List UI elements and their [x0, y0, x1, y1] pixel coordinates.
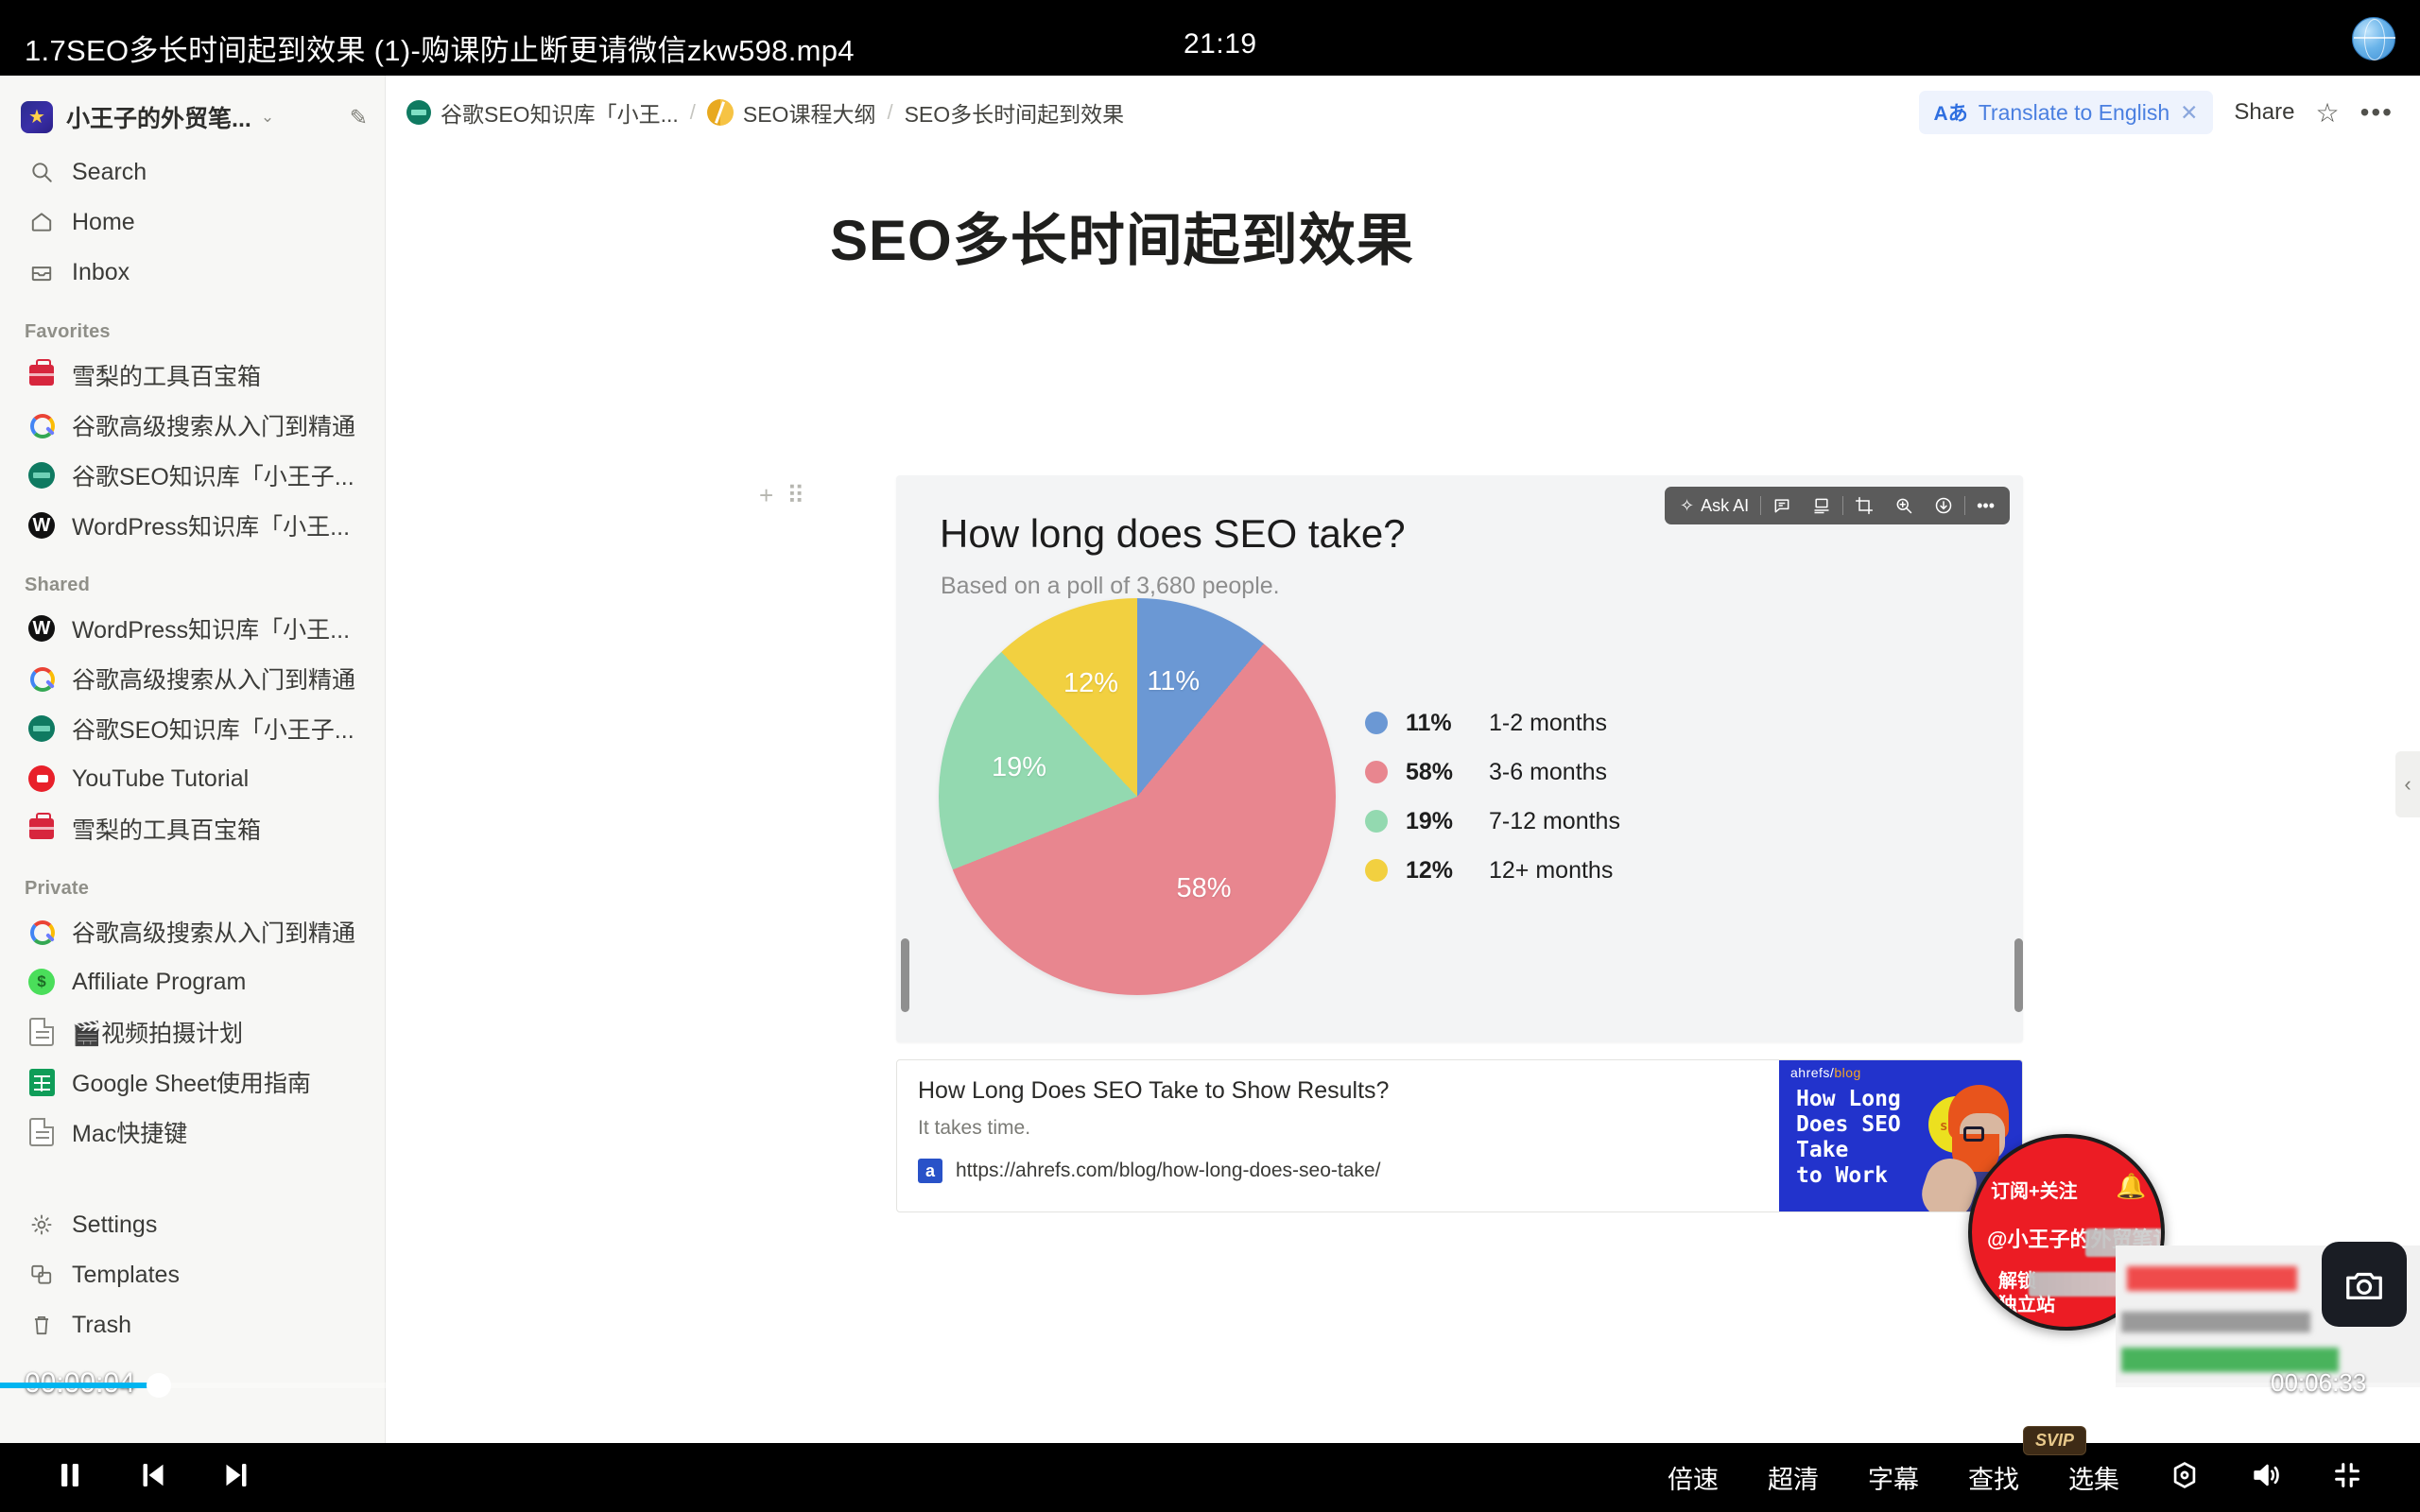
- pie-chart: 11% 58% 19% 12%: [939, 598, 1336, 995]
- find-button[interactable]: 查找: [1968, 1459, 2019, 1496]
- sidebar-item-label: Mac快捷键: [72, 1115, 187, 1149]
- sidebar-section-shared-title: Shared: [25, 575, 385, 596]
- sidebar-item-settings[interactable]: Settings: [11, 1200, 373, 1249]
- sidebar-item-private-0[interactable]: 谷歌高级搜索从入门到精通: [11, 907, 373, 956]
- toolbar-divider: [1842, 496, 1843, 515]
- legend-color-swatch: [1365, 859, 1388, 882]
- sidebar-item-shared-1[interactable]: 谷歌高级搜索从入门到精通: [11, 654, 373, 703]
- sidebar-item-shared-2[interactable]: 谷歌SEO知识库「小王子...: [11, 704, 373, 753]
- bell-icon: 🔔: [2116, 1172, 2146, 1201]
- sidebar-item-favorites-0[interactable]: 雪梨的工具百宝箱: [11, 351, 373, 400]
- globe-icon[interactable]: [2352, 17, 2395, 60]
- workspace-name: 小王子的外贸笔...: [66, 100, 251, 134]
- workspace-switcher[interactable]: ★ 小王子的外贸笔... ⌄ ✎: [13, 93, 375, 142]
- legend-item-3: 12% 12+ months: [1365, 855, 1620, 885]
- pie-label-0: 11%: [1147, 666, 1200, 697]
- legend-percent: 19%: [1406, 808, 1476, 835]
- glasses-shape: [1963, 1126, 1984, 1142]
- youtube-icon: [25, 765, 59, 792]
- crop-icon[interactable]: [1845, 492, 1883, 519]
- video-file-title: 1.7SEO多长时间起到效果 (1)-购课防止断更请微信zkw598.mp4: [25, 26, 855, 69]
- settings-icon[interactable]: [2169, 1459, 2201, 1496]
- sidebar-item-label: 谷歌SEO知识库「小王子...: [72, 458, 354, 492]
- pie-label-3: 12%: [1063, 668, 1118, 699]
- image-toolbar: ✧ Ask AI: [1665, 487, 2010, 524]
- previous-icon[interactable]: [136, 1458, 170, 1497]
- translate-to-english-chip[interactable]: Aあ Translate to English ✕: [1919, 91, 2214, 134]
- sidebar-item-label: 雪梨的工具百宝箱: [72, 358, 261, 392]
- page-side-peek-toggle[interactable]: ‹: [2395, 751, 2420, 817]
- block-resize-handle-right[interactable]: [2014, 938, 2023, 1012]
- sidebar-item-label: Templates: [72, 1262, 180, 1289]
- legend-color-swatch: [1365, 712, 1388, 734]
- pie-chart-slices: [939, 598, 1336, 995]
- more-horizontal-icon[interactable]: •••: [1967, 492, 2004, 519]
- share-button[interactable]: Share: [2234, 99, 2294, 126]
- volume-icon[interactable]: [2250, 1459, 2282, 1496]
- download-icon[interactable]: [1925, 492, 1962, 519]
- player-right-controls: 倍速 超清 字幕 查找 选集: [1668, 1459, 2363, 1496]
- google-search-icon: [25, 412, 59, 438]
- chart-legend: 11% 1-2 months 58% 3-6 months 19% 7-12 m…: [1365, 708, 1620, 904]
- sidebar-item-label: Google Sheet使用指南: [72, 1065, 311, 1099]
- translate-label: Translate to English: [1979, 100, 2169, 126]
- sidebar-item-label: 谷歌SEO知识库「小王子...: [72, 712, 354, 746]
- sidebar-item-trash[interactable]: Trash: [11, 1300, 373, 1349]
- orange-page-icon: [707, 99, 734, 126]
- sidebar-item-label: 谷歌高级搜索从入门到精通: [72, 408, 355, 442]
- legend-color-swatch: [1365, 761, 1388, 783]
- toolbar-divider: [1760, 496, 1761, 515]
- sidebar-item-private-2[interactable]: 🎬视频拍摄计划: [11, 1007, 373, 1057]
- sidebar-item-templates[interactable]: Templates: [11, 1250, 373, 1299]
- edit-pencil-icon[interactable]: ✎: [350, 105, 368, 130]
- close-icon[interactable]: ✕: [2180, 100, 2198, 126]
- svip-badge: SVIP: [2023, 1426, 2086, 1455]
- sidebar-item-label: Affiliate Program: [72, 969, 246, 996]
- legend-category: 3-6 months: [1489, 759, 1607, 786]
- sidebar-item-label: 🎬视频拍摄计划: [72, 1015, 243, 1049]
- link-preview-url-row[interactable]: a https://ahrefs.com/blog/how-long-does-…: [918, 1159, 1380, 1183]
- templates-icon: [25, 1263, 59, 1287]
- sidebar-item-favorites-2[interactable]: 谷歌SEO知识库「小王子...: [11, 451, 373, 500]
- chevron-left-icon: ‹: [2404, 772, 2411, 797]
- sidebar-item-inbox[interactable]: Inbox: [11, 248, 373, 297]
- video-seek-bar[interactable]: [0, 1383, 2420, 1388]
- ahrefs-favicon-icon: a: [918, 1159, 942, 1183]
- breadcrumb-separator: /: [887, 100, 892, 125]
- affiliate-icon: [25, 969, 59, 995]
- star-avatar-icon: ★: [21, 101, 53, 133]
- ask-ai-button[interactable]: ✧ Ask AI: [1670, 492, 1758, 519]
- chart-image-block[interactable]: ✧ Ask AI: [896, 475, 2023, 1042]
- pause-icon[interactable]: [53, 1458, 87, 1497]
- legend-item-0: 11% 1-2 months: [1365, 708, 1620, 738]
- video-clock: 21:19: [1184, 28, 1257, 60]
- seo-badge-icon: [406, 100, 431, 125]
- google-search-icon: [25, 919, 59, 945]
- video-title-bar: 1.7SEO多长时间起到效果 (1)-购课防止断更请微信zkw598.mp4 2…: [0, 0, 2420, 76]
- seek-handle[interactable]: [147, 1373, 171, 1398]
- top-bar: 谷歌SEO知识库「小王... / SEO课程大纲 / SEO多长时间起到效果 A…: [386, 76, 2420, 149]
- google-search-icon: [25, 665, 59, 692]
- legend-category: 12+ months: [1489, 857, 1613, 885]
- blur-mask: [2121, 1312, 2310, 1332]
- subtitle-button[interactable]: 字幕: [1868, 1459, 1919, 1496]
- sidebar-item-label: 雪梨的工具百宝箱: [72, 812, 261, 846]
- document-body: SEO多长时间起到效果 + ⠿ ✧ Ask AI: [386, 195, 2420, 277]
- sidebar-item-shared-4[interactable]: 雪梨的工具百宝箱: [11, 804, 373, 853]
- inbox-icon: [25, 260, 59, 284]
- chart-title: How long does SEO take?: [940, 511, 1406, 557]
- gear-icon: [25, 1212, 59, 1237]
- playback-speed-button[interactable]: 倍速: [1668, 1459, 1719, 1496]
- document-icon: [25, 1018, 59, 1046]
- sidebar-item-private-3[interactable]: Google Sheet使用指南: [11, 1057, 373, 1107]
- sidebar-item-favorites-1[interactable]: 谷歌高级搜索从入门到精通: [11, 401, 373, 450]
- legend-item-2: 19% 7-12 months: [1365, 806, 1620, 836]
- link-preview-url: https://ahrefs.com/blog/how-long-does-se…: [956, 1160, 1380, 1182]
- link-preview-card[interactable]: How Long Does SEO Take to Show Results? …: [896, 1059, 2023, 1212]
- breadcrumb-label: SEO课程大纲: [743, 96, 876, 129]
- pie-label-1: 58%: [1176, 873, 1231, 904]
- chart-subtitle: Based on a poll of 3,680 people.: [941, 573, 1280, 600]
- sidebar-item-label: Inbox: [72, 259, 130, 286]
- sidebar-section-private-title: Private: [25, 878, 385, 900]
- block-controls: + ⠿: [759, 481, 804, 510]
- sidebar-item-shared-0[interactable]: W WordPress知识库「小王...: [11, 604, 373, 653]
- next-icon[interactable]: [219, 1458, 253, 1497]
- drag-handle-icon[interactable]: ⠿: [786, 481, 804, 510]
- breadcrumb-label: 谷歌SEO知识库「小王...: [441, 96, 679, 129]
- sidebar-item-private-1[interactable]: Affiliate Program: [11, 957, 373, 1006]
- ask-ai-label: Ask AI: [1701, 496, 1749, 516]
- sidebar-item-home[interactable]: Home: [11, 198, 373, 247]
- subscribe-line-1: 订阅+关注: [1991, 1176, 2078, 1203]
- sidebar-item-label: Trash: [72, 1312, 131, 1339]
- quality-button[interactable]: 超清: [1768, 1459, 1819, 1496]
- legend-item-1: 58% 3-6 months: [1365, 757, 1620, 787]
- zoom-in-icon[interactable]: [1885, 492, 1923, 519]
- toolbox-icon: [25, 818, 59, 839]
- wordpress-icon: W: [25, 512, 59, 539]
- ahrefs-blog-brand: ahrefs/blog: [1790, 1065, 1861, 1080]
- sidebar-item-label: Home: [72, 209, 135, 236]
- link-preview-description: It takes time.: [918, 1117, 1030, 1140]
- screenshot-button[interactable]: [2322, 1242, 2407, 1327]
- sidebar-section-favorites-title: Favorites: [25, 321, 385, 343]
- chevron-down-icon[interactable]: ⌄: [261, 108, 274, 127]
- legend-category: 1-2 months: [1489, 710, 1607, 737]
- sidebar-item-label: 谷歌高级搜索从入门到精通: [72, 661, 355, 696]
- breadcrumb-item-0[interactable]: 谷歌SEO知识库「小王...: [406, 96, 679, 129]
- legend-percent: 58%: [1406, 759, 1476, 786]
- legend-percent: 11%: [1406, 710, 1476, 737]
- block-resize-handle-left[interactable]: [901, 938, 909, 1012]
- sidebar-item-label: YouTube Tutorial: [72, 765, 249, 793]
- seo-badge-icon: [25, 462, 59, 489]
- search-icon: [25, 160, 59, 184]
- pie-label-2: 19%: [992, 752, 1046, 783]
- document-icon: [25, 1118, 59, 1146]
- sidebar-item-label: Settings: [72, 1211, 157, 1239]
- sidebar-item-label: 谷歌高级搜索从入门到精通: [72, 915, 355, 949]
- translate-icon: Aあ: [1934, 98, 1968, 127]
- thumbnail-heading: How LongDoes SEOTaketo Work: [1796, 1087, 1901, 1190]
- breadcrumb-label: SEO多长时间起到效果: [905, 96, 1125, 129]
- sidebar-item-favorites-3[interactable]: W WordPress知识库「小王...: [11, 501, 373, 550]
- top-bar-actions: Aあ Translate to English ✕ Share ☆ •••: [1919, 91, 2394, 134]
- sidebar-item-search[interactable]: Search: [11, 147, 373, 197]
- trash-icon: [25, 1313, 59, 1337]
- breadcrumb-item-2[interactable]: SEO多长时间起到效果: [905, 96, 1125, 129]
- player-left-controls: [53, 1458, 253, 1497]
- more-horizontal-icon[interactable]: •••: [2360, 97, 2394, 128]
- sidebar-item-private-4[interactable]: Mac快捷键: [11, 1108, 373, 1157]
- star-outline-icon[interactable]: ☆: [2315, 97, 2339, 129]
- sidebar-item-label: Search: [72, 159, 147, 186]
- sidebar-item-label: WordPress知识库「小王...: [72, 508, 350, 542]
- google-sheets-icon: [25, 1069, 59, 1096]
- camera-icon: [2342, 1263, 2386, 1306]
- seo-badge-icon: [25, 715, 59, 742]
- plus-icon[interactable]: +: [759, 481, 773, 510]
- link-preview-title: How Long Does SEO Take to Show Results?: [918, 1077, 1389, 1105]
- toolbar-divider: [1964, 496, 1965, 515]
- breadcrumb-separator: /: [690, 100, 696, 125]
- home-icon: [25, 210, 59, 234]
- blur-mask: [2127, 1266, 2297, 1291]
- page-title: SEO多长时间起到效果: [830, 195, 2420, 277]
- breadcrumb-item-1[interactable]: SEO课程大纲: [707, 96, 876, 129]
- sparkle-ai-icon: ✧: [1680, 496, 1694, 516]
- sidebar-item-shared-3[interactable]: YouTube Tutorial: [11, 754, 373, 803]
- legend-category: 7-12 months: [1489, 808, 1620, 835]
- seek-progress: [0, 1383, 159, 1388]
- legend-percent: 12%: [1406, 857, 1476, 885]
- episodes-button[interactable]: 选集: [2068, 1459, 2119, 1496]
- exit-fullscreen-icon[interactable]: [2331, 1459, 2363, 1496]
- wordpress-icon: W: [25, 615, 59, 642]
- toolbox-icon: [25, 365, 59, 386]
- sidebar-item-label: WordPress知识库「小王...: [72, 611, 350, 645]
- caption-icon[interactable]: [1803, 492, 1841, 519]
- legend-color-swatch: [1365, 810, 1388, 833]
- comment-icon[interactable]: [1763, 492, 1801, 519]
- sidebar: ★ 小王子的外贸笔... ⌄ ✎ Search: [0, 76, 386, 1443]
- screen-root: 1.7SEO多长时间起到效果 (1)-购课防止断更请微信zkw598.mp4 2…: [0, 0, 2420, 1512]
